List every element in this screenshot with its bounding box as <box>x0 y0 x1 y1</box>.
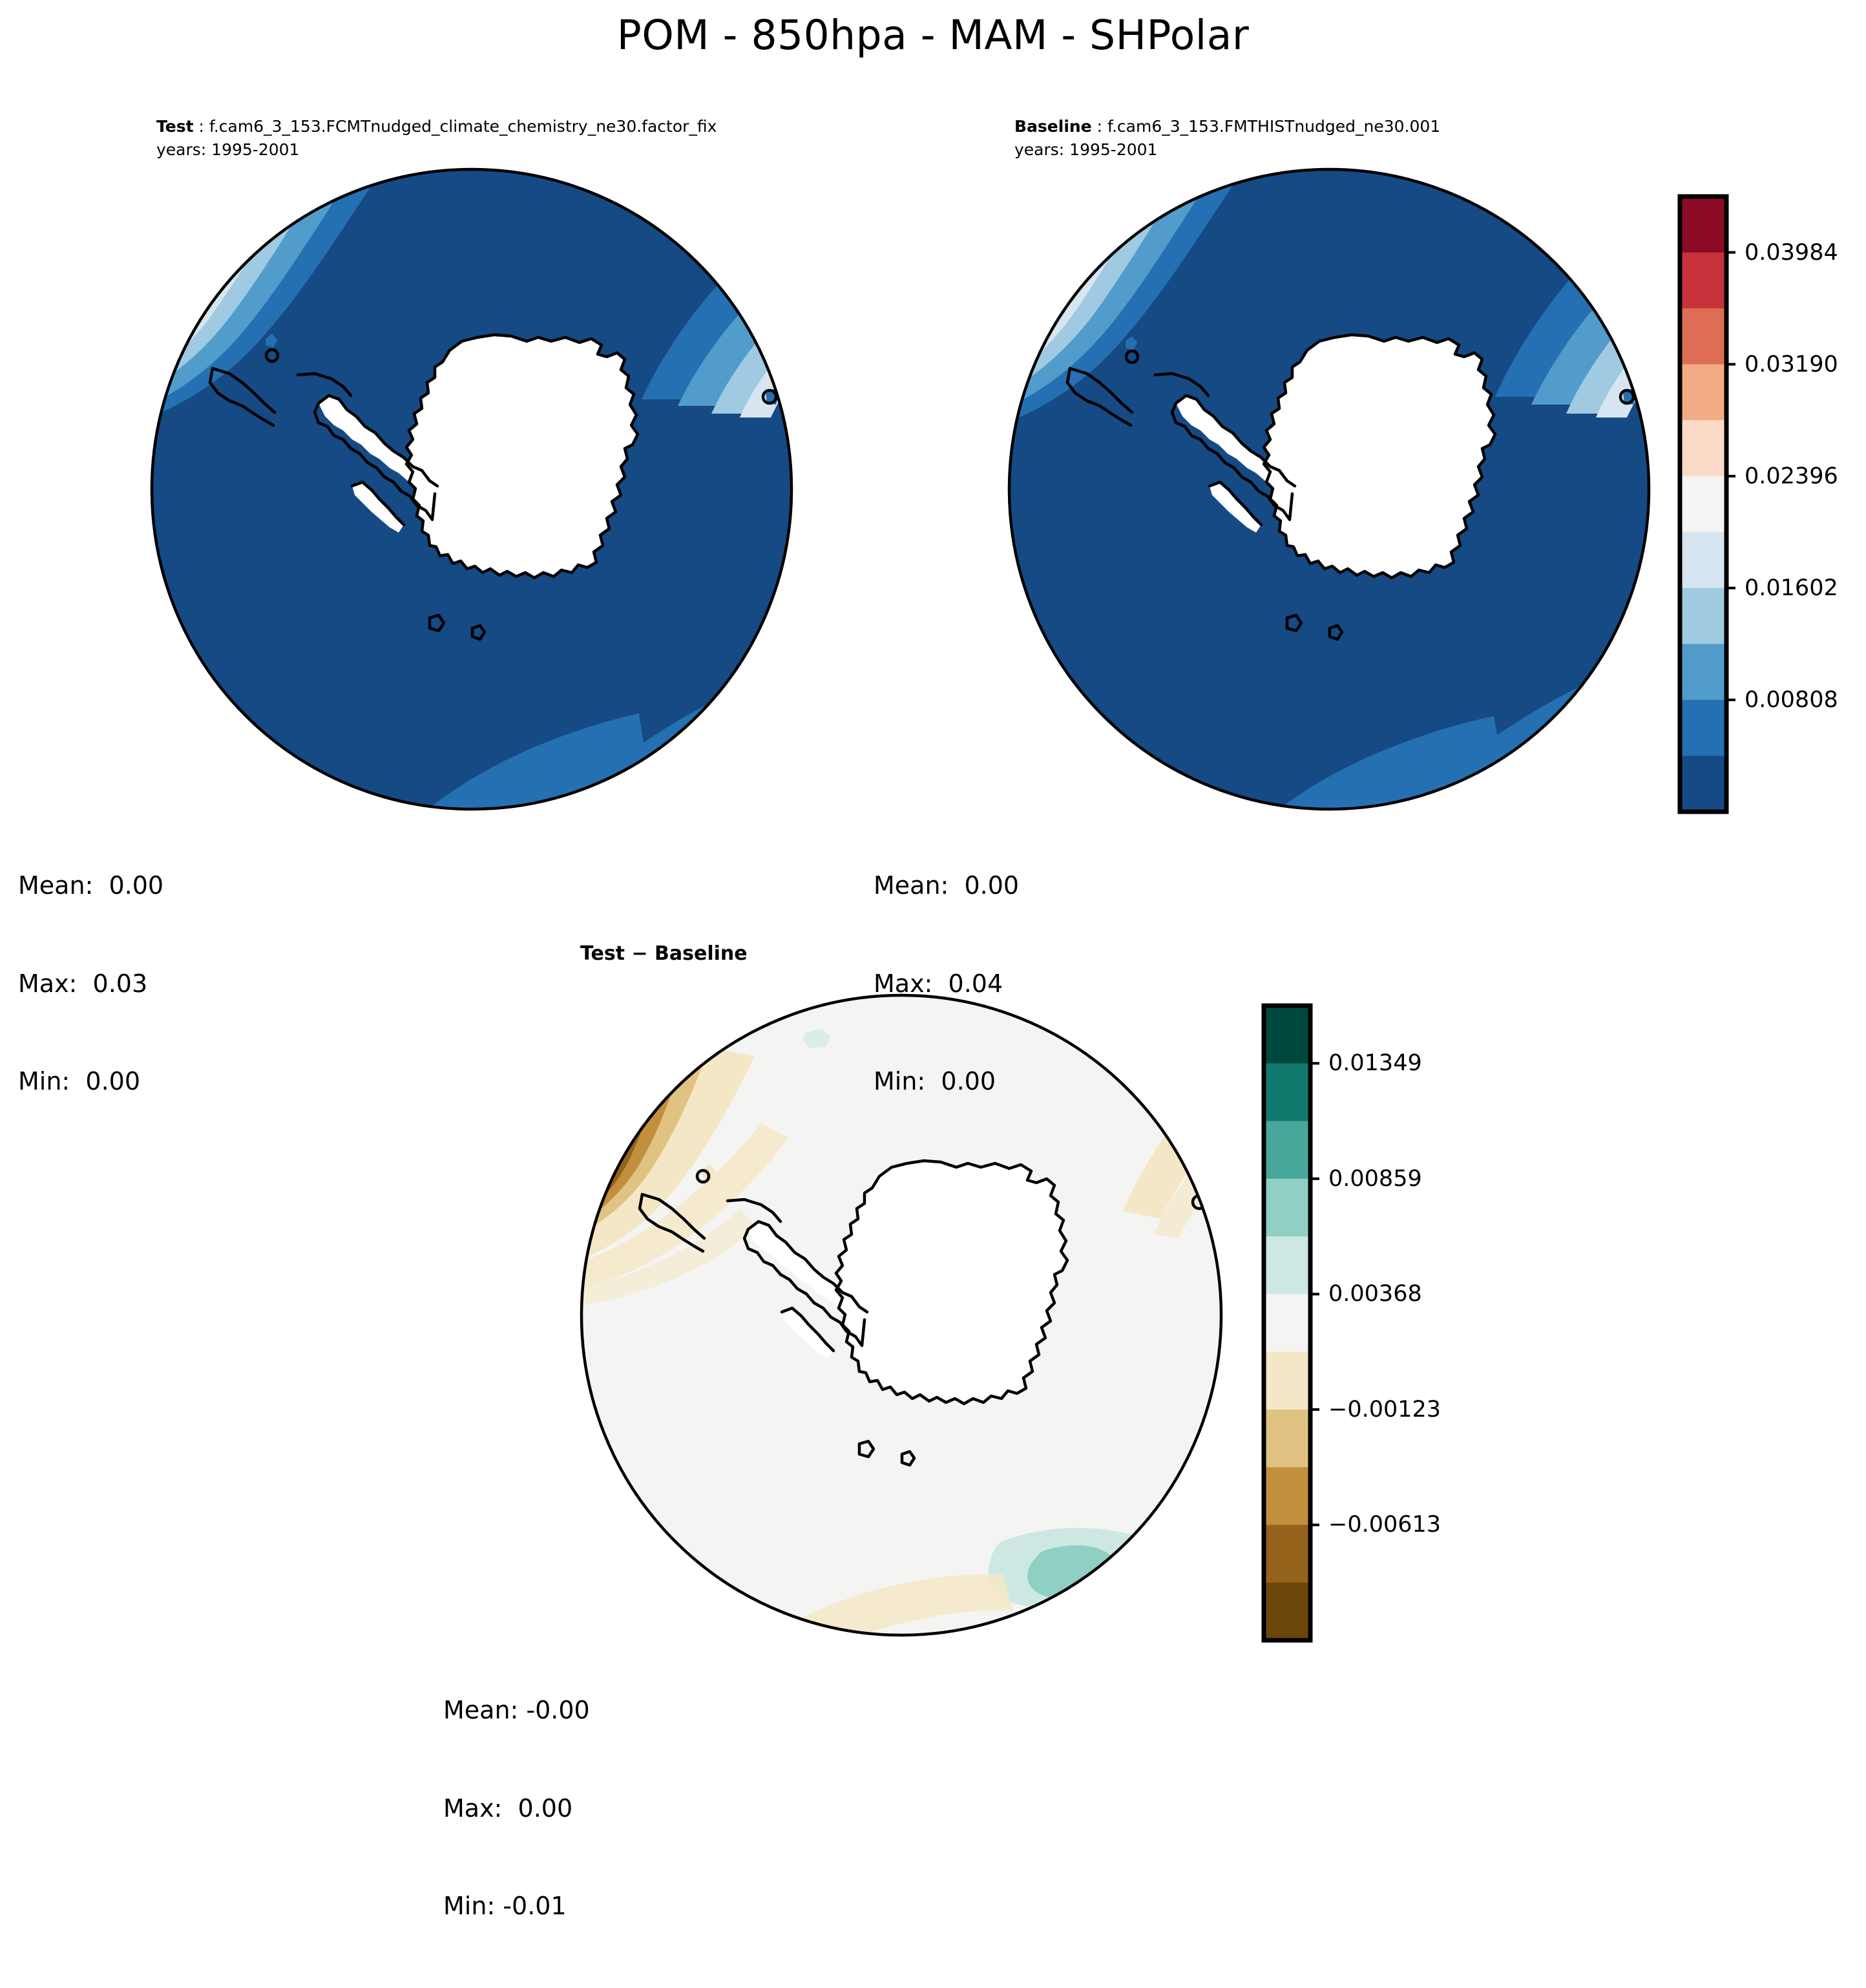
colorbar-band <box>1680 365 1726 421</box>
test-separator: : <box>194 117 209 136</box>
colorbar-band <box>1680 532 1726 588</box>
difference-stat-max: Max: 0.00 <box>443 1792 590 1825</box>
colorbar-band <box>1264 1179 1310 1237</box>
colorbar-band <box>1264 1352 1310 1410</box>
baseline-stat-mean: Mean: 0.00 <box>874 869 1019 902</box>
test-panel-caption: Test : f.cam6_3_153.FCMTnudged_climate_c… <box>156 115 717 161</box>
baseline-stat-max: Max: 0.04 <box>874 968 1019 1000</box>
colorbar-tick-label: 0.00859 <box>1328 1166 1422 1192</box>
baseline-case-name: f.cam6_3_153.FMTHISTnudged_ne30.001 <box>1107 117 1440 136</box>
difference-stat-mean: Mean: -0.00 <box>443 1694 590 1727</box>
colorbar-tick-label: 0.02396 <box>1745 463 1838 489</box>
figure-title: POM - 850hpa - MAM - SHPolar <box>0 12 1866 59</box>
test-label: Test <box>156 117 194 136</box>
test-stat-min: Min: 0.00 <box>18 1065 163 1098</box>
colorbar-band <box>1264 1063 1310 1121</box>
baseline-panel-caption: Baseline : f.cam6_3_153.FMTHISTnudged_ne… <box>1014 115 1440 161</box>
difference-stats: Mean: -0.00 Max: 0.00 Min: -0.01 <box>443 1629 590 1988</box>
colorbar-tick-label: 0.03984 <box>1745 240 1838 266</box>
colorbar-tick-label: 0.01602 <box>1745 575 1838 601</box>
baseline-stat-min: Min: 0.00 <box>874 1065 1019 1098</box>
colorbar-band <box>1264 1583 1310 1641</box>
colorbar-tick-label: 0.00368 <box>1328 1281 1422 1307</box>
main-colorbar <box>1677 194 1735 814</box>
test-polar-map <box>145 163 798 816</box>
difference-stat-min: Min: -0.01 <box>443 1890 590 1923</box>
colorbar-band <box>1680 420 1726 476</box>
colorbar-band <box>1264 1467 1310 1525</box>
colorbar-tick-label: −0.00613 <box>1328 1512 1441 1538</box>
test-stats: Mean: 0.00 Max: 0.03 Min: 0.00 <box>18 804 163 1163</box>
colorbar-band <box>1264 1006 1310 1064</box>
test-stat-mean: Mean: 0.00 <box>18 869 163 902</box>
colorbar-band <box>1680 308 1726 365</box>
colorbar-band <box>1680 644 1726 700</box>
colorbar-tick-label: 0.00808 <box>1745 687 1838 713</box>
colorbar-band <box>1680 476 1726 533</box>
test-stat-max: Max: 0.03 <box>18 968 163 1000</box>
colorbar-band <box>1680 253 1726 309</box>
baseline-stats: Mean: 0.00 Max: 0.04 Min: 0.00 <box>874 804 1019 1163</box>
baseline-polar-map <box>1003 163 1655 816</box>
colorbar-band <box>1680 700 1726 756</box>
colorbar-band <box>1264 1410 1310 1468</box>
test-case-name: f.cam6_3_153.FCMTnudged_climate_chemistr… <box>209 117 717 136</box>
test-years: years: 1995-2001 <box>156 138 717 162</box>
colorbar-band <box>1264 1121 1310 1179</box>
difference-colorbar <box>1261 1003 1319 1643</box>
colorbar-band <box>1680 588 1726 644</box>
difference-panel-title: Test − Baseline <box>580 942 748 965</box>
colorbar-band <box>1264 1525 1310 1583</box>
figure-canvas: POM - 850hpa - MAM - SHPolar Test : f.ca… <box>0 0 1866 1724</box>
colorbar-band <box>1680 756 1726 812</box>
colorbar-tick-label: 0.03190 <box>1745 352 1838 377</box>
baseline-label: Baseline <box>1014 117 1092 136</box>
baseline-years: years: 1995-2001 <box>1014 138 1440 162</box>
colorbar-tick-label: −0.00123 <box>1328 1397 1441 1422</box>
colorbar-band <box>1264 1236 1310 1295</box>
colorbar-band <box>1264 1294 1310 1352</box>
baseline-separator: : <box>1092 117 1107 136</box>
colorbar-band <box>1680 196 1726 253</box>
colorbar-tick-label: 0.01349 <box>1328 1050 1422 1076</box>
